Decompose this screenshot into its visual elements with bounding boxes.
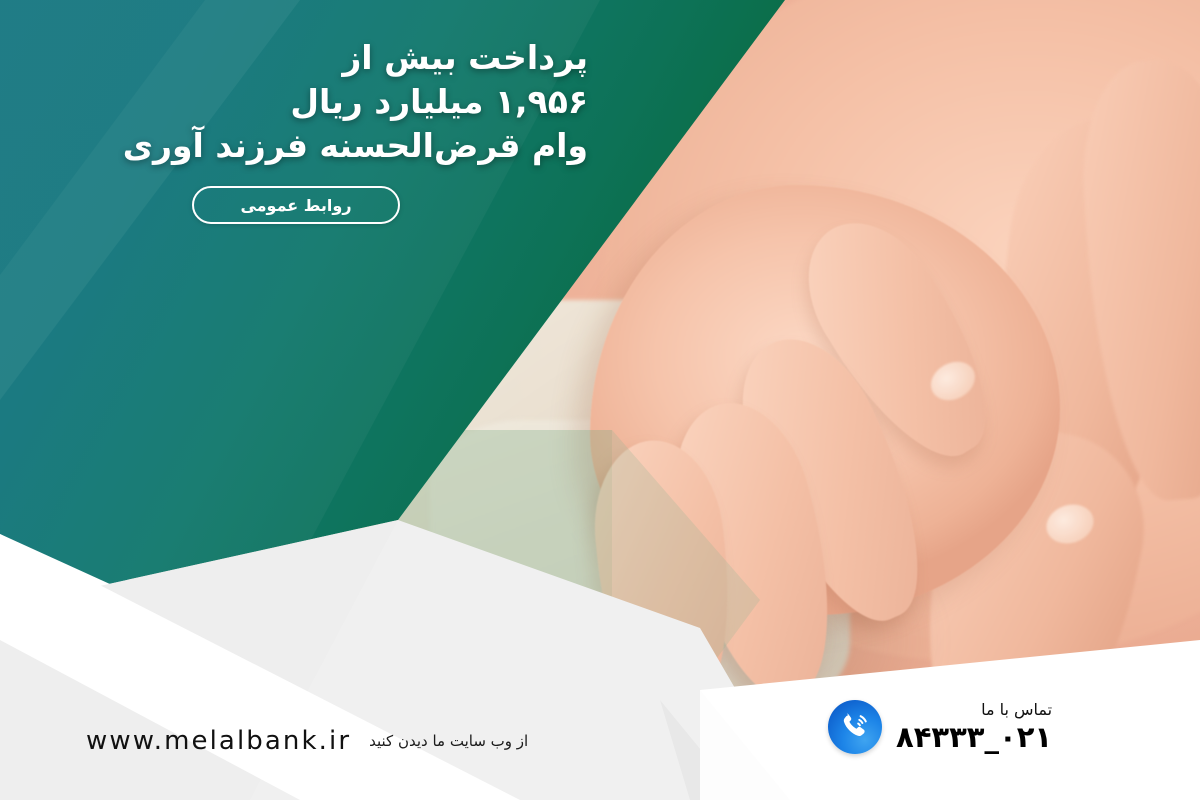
phone-call-icon[interactable] — [828, 700, 882, 754]
public-relations-button-label: روابط عمومی — [240, 196, 351, 215]
headline-line-1: پرداخت بیش از — [118, 36, 588, 80]
website-row: www.melalbank.ir از وب سایت ما دیدن کنید — [86, 726, 528, 756]
public-relations-button[interactable]: روابط عمومی — [192, 186, 400, 224]
headline-line-3: وام قرض‌الحسنه فرزند آوری — [118, 124, 588, 168]
contact-number[interactable]: ۰۲۱_۸۴۳۳۳ — [896, 722, 1052, 752]
headline-line-2: ۱,۹۵۶ میلیارد ریال — [118, 80, 588, 124]
website-url-link[interactable]: www.melalbank.ir — [86, 726, 351, 756]
promo-banner: پرداخت بیش از ۱,۹۵۶ میلیارد ریال وام قرض… — [0, 0, 1200, 800]
contact-block[interactable]: تماس با ما ۰۲۱_۸۴۳۳۳ — [828, 700, 1052, 754]
headline: پرداخت بیش از ۱,۹۵۶ میلیارد ریال وام قرض… — [118, 36, 588, 168]
website-note: از وب سایت ما دیدن کنید — [369, 732, 528, 750]
contact-text: تماس با ما ۰۲۱_۸۴۳۳۳ — [896, 702, 1052, 752]
contact-label: تماس با ما — [896, 702, 1052, 719]
